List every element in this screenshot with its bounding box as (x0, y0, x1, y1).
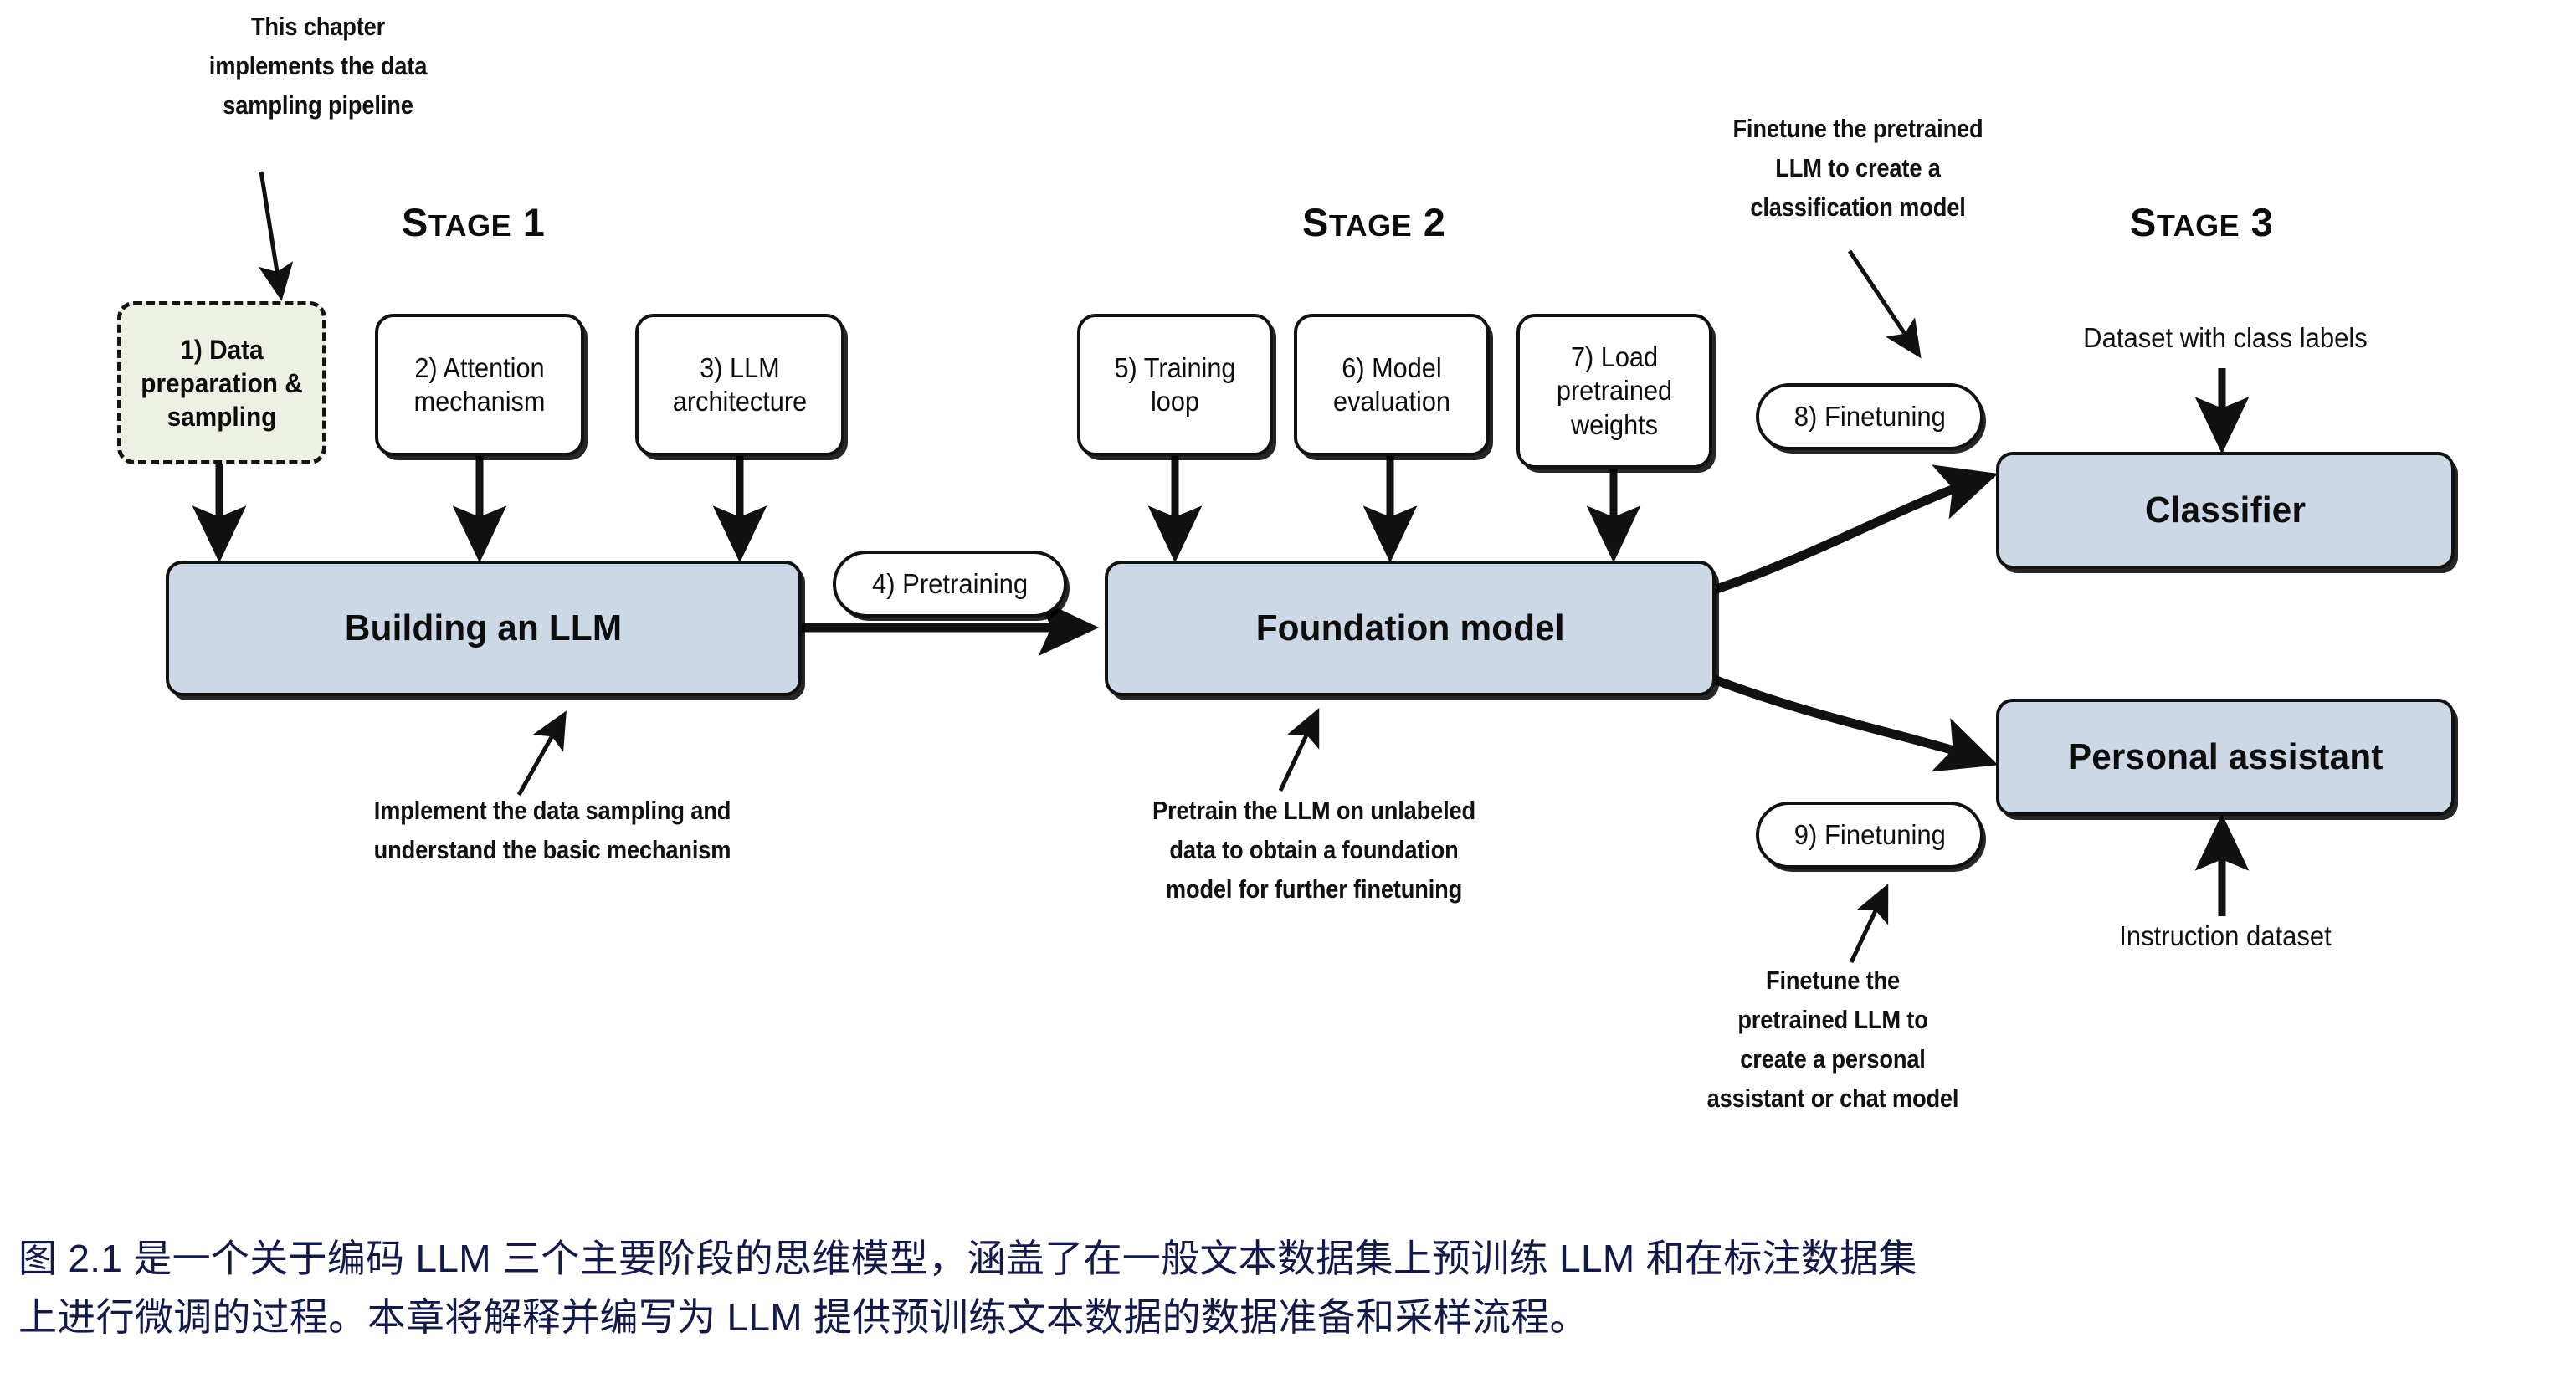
pill-pretraining[interactable]: 4) Pretraining (833, 551, 1067, 618)
stage-3-rest: TAGE (2157, 208, 2240, 243)
box-llm-architecture-label: 3) LLM architecture (645, 351, 834, 419)
box-data-preparation-label: 1) Data preparation & sampling (128, 333, 315, 433)
pill-finetuning-8-label: 8) Finetuning (1793, 401, 1945, 433)
label-dataset-with-class-labels: Dataset with class labels (2009, 322, 2440, 354)
box-training-loop-label: 5) Training loop (1087, 351, 1263, 419)
stage-2-number: 2 (1424, 200, 1446, 244)
annotation-finetune-classification: Finetune the pretrained LLM to create a … (1659, 109, 2056, 227)
box-foundation-model-label: Foundation model (1255, 606, 1564, 651)
box-attention-mechanism-label: 2) Attention mechanism (385, 351, 573, 419)
arrow-foundation-to-classifier (1714, 477, 1988, 590)
box-personal-assistant-label: Personal assistant (2068, 735, 2384, 780)
figure-caption: 图 2.1 是一个关于编码 LLM 三个主要阶段的思维模型，涵盖了在一般文本数据… (18, 1230, 2563, 1347)
box-building-an-llm-label: Building an LLM (345, 606, 622, 651)
stage-2-rest: TAGE (1329, 208, 1412, 243)
caption-line-1: 图 2.1 是一个关于编码 LLM 三个主要阶段的思维模型，涵盖了在一般文本数据… (18, 1230, 2563, 1289)
caption-line-2: 上进行微调的过程。本章将解释并编写为 LLM 提供预训练文本数据的数据准备和采样… (18, 1289, 2563, 1347)
annotation-pretrain-llm: Pretrain the LLM on unlabeled data to ob… (1071, 791, 1557, 909)
stage-1-number-sep (511, 200, 523, 244)
box-model-evaluation[interactable]: 6) Model evaluation (1294, 314, 1490, 456)
box-foundation-model[interactable]: Foundation model (1105, 561, 1716, 696)
stage-2-heading: STAGE 2 (1302, 199, 1445, 245)
box-classifier-label: Classifier (2145, 488, 2306, 533)
annotation-this-chapter: This chapter implements the data samplin… (192, 7, 443, 125)
box-attention-mechanism[interactable]: 2) Attention mechanism (375, 314, 584, 456)
llm-stages-diagram: This chapter implements the data samplin… (0, 0, 2576, 1213)
box-data-preparation[interactable]: 1) Data preparation & sampling (117, 301, 326, 464)
box-training-loop[interactable]: 5) Training loop (1077, 314, 1273, 456)
pill-finetuning-9-label: 9) Finetuning (1793, 819, 1945, 851)
box-classifier[interactable]: Classifier (1996, 452, 2455, 569)
box-load-pretrained-weights-label: 7) Load pretrained weights (1527, 341, 1702, 442)
stage-1-number: 1 (523, 200, 546, 244)
stage-3-number-sep (2240, 200, 2251, 244)
pill-finetuning-8[interactable]: 8) Finetuning (1756, 383, 1983, 450)
box-building-an-llm[interactable]: Building an LLM (166, 561, 802, 696)
stage-3-heading: STAGE 3 (2130, 199, 2273, 245)
arrow-annotation-to-foundation (1280, 715, 1316, 791)
arrow-annotation-to-building (519, 718, 562, 795)
arrow-chapter-to-data (261, 172, 280, 293)
arrow-annotation-to-finetuning8 (1850, 251, 1917, 351)
stage-2-prefix: S (1302, 200, 1329, 244)
annotation-finetune-personal: Finetune the pretrained LLM to create a … (1634, 961, 2031, 1118)
arrow-foundation-to-assistant (1714, 679, 1988, 761)
pill-pretraining-label: 4) Pretraining (872, 568, 1028, 600)
stage-3-number: 3 (2251, 200, 2274, 244)
box-model-evaluation-label: 6) Model evaluation (1304, 351, 1480, 419)
arrow-annotation-to-finetuning9 (1851, 891, 1885, 962)
box-load-pretrained-weights[interactable]: 7) Load pretrained weights (1516, 314, 1712, 469)
stage-2-number-sep (1412, 200, 1424, 244)
stage-1-rest: TAGE (428, 208, 511, 243)
annotation-implement-data-sampling: Implement the data sampling and understa… (273, 791, 833, 869)
box-personal-assistant[interactable]: Personal assistant (1996, 699, 2455, 816)
stage-1-heading: STAGE 1 (402, 199, 545, 245)
box-llm-architecture[interactable]: 3) LLM architecture (635, 314, 844, 456)
stage-3-prefix: S (2130, 200, 2157, 244)
stage-1-prefix: S (402, 200, 428, 244)
label-instruction-dataset: Instruction dataset (2009, 920, 2440, 952)
pill-finetuning-9[interactable]: 9) Finetuning (1756, 802, 1983, 869)
